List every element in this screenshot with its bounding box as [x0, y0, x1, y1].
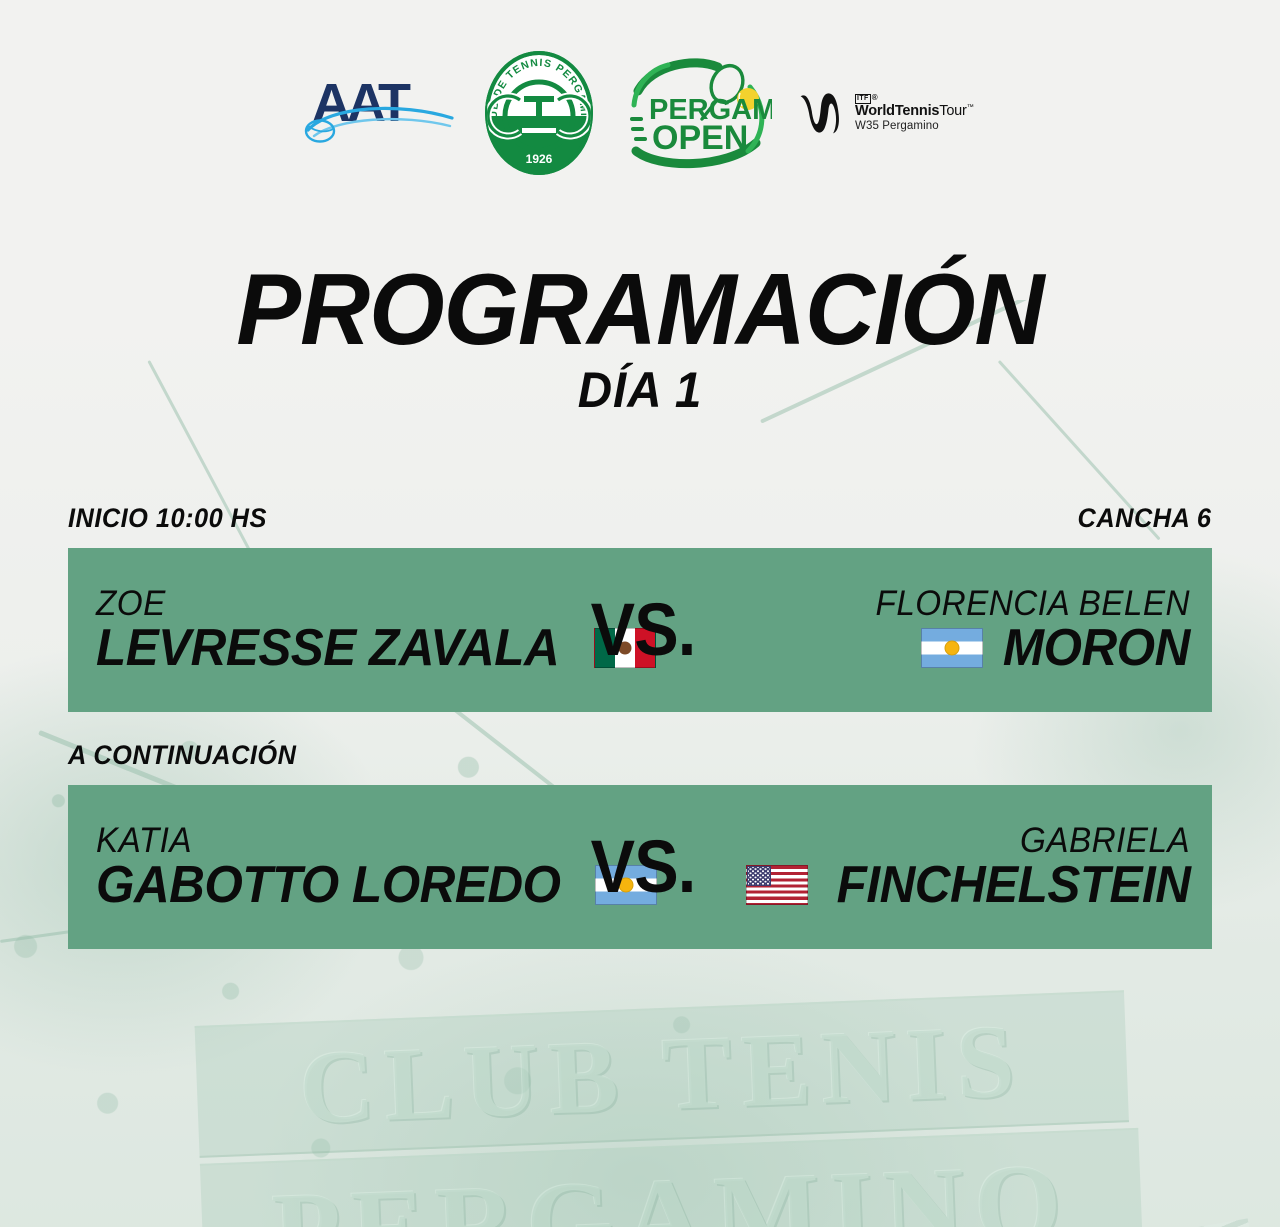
- match-2-player-right: GABRIELA FINCHELSTEIN: [738, 823, 1212, 911]
- player-last-name: GABOTTO LOREDO: [96, 859, 560, 911]
- itf-registered-mark: ®: [872, 94, 878, 102]
- club-de-tennis-pergamino-crest: CLUB DE TENNIS PERGAMINO 1926: [480, 50, 598, 176]
- player-first-name: ZOE: [96, 586, 166, 622]
- player-last-name: FINCHELSTEIN: [836, 859, 1190, 911]
- player-first-name: GABRIELA: [1020, 823, 1190, 859]
- itf-world-word: World: [855, 103, 895, 119]
- itf-w-mark-icon: [796, 87, 848, 139]
- club-sign: CLUB TENIS PERGAMINO: [195, 990, 1136, 1227]
- match-1-band: ZOE LEVRESSE ZAVALA VS. FLORENCIA BELEN …: [68, 548, 1212, 712]
- player-first-name: FLORENCIA BELEN: [876, 586, 1190, 622]
- match-1-vs-label: VS.: [558, 593, 729, 667]
- itf-world-tennis-tour-text: WorldTennisTour™: [855, 104, 974, 119]
- match-2-header: A CONTINUACIÓN: [68, 737, 1212, 771]
- player-last-name: LEVRESSE ZAVALA: [96, 622, 559, 674]
- itf-text-block: ITF ® WorldTennisTour™ W35 Pergamino: [855, 94, 974, 132]
- match-2-player-left: KATIA GABOTTO LOREDO: [68, 823, 548, 911]
- itf-trademark-mark: ™: [967, 104, 974, 111]
- match-2-band: KATIA GABOTTO LOREDO VS. GABRIELA FINCHE…: [68, 785, 1212, 949]
- player-last-line: FINCHELSTEIN: [746, 859, 1190, 911]
- sign-line-1: CLUB TENIS: [297, 1001, 1026, 1148]
- match-2-vs-label: VS.: [558, 830, 729, 904]
- logo-bar: AAT CLUB DE TENNIS PERGAMINO: [0, 48, 1280, 178]
- pergamino-open-logo: PERGAMINO OPEN: [622, 57, 772, 169]
- title-block: PROGRAMACIÓN DÍA 1: [0, 262, 1280, 415]
- usa-flag: [746, 865, 808, 905]
- itf-tour-word: Tour: [939, 103, 966, 119]
- crest-year: 1926: [526, 152, 553, 166]
- aat-swoosh-icon: [304, 100, 456, 146]
- itf-tennis-word: Tennis: [895, 103, 939, 119]
- player-last-line: MORON: [921, 622, 1190, 674]
- sign-plank-top: CLUB TENIS: [195, 990, 1129, 1158]
- pergamino-open-line2: OPEN: [652, 119, 748, 157]
- player-first-name: KATIA: [96, 823, 192, 859]
- page-subtitle: DÍA 1: [32, 365, 1248, 415]
- itf-event-name: W35 Pergamino: [855, 120, 974, 132]
- foliage-texture: [0, 700, 780, 1227]
- match-1-player-left: ZOE LEVRESSE ZAVALA: [68, 586, 548, 674]
- match-2-start-time: A CONTINUACIÓN: [68, 740, 296, 771]
- player-last-name: MORON: [1003, 622, 1190, 674]
- argentina-flag-sun: [945, 640, 960, 655]
- match-1-start-time: INICIO 10:00 HS: [68, 503, 267, 534]
- match-1-player-right: FLORENCIA BELEN MORON: [738, 586, 1212, 674]
- match-1-header: INICIO 10:00 HS CANCHA 6: [68, 500, 1212, 534]
- sign-plank-bottom: PERGAMINO: [200, 1128, 1144, 1227]
- roof-tiles: [992, 1218, 1269, 1227]
- page-title: PROGRAMACIÓN: [26, 262, 1255, 359]
- sign-line-2: PERGAMINO: [270, 1138, 1074, 1227]
- match-1-court: CANCHA 6: [1078, 503, 1212, 534]
- usa-flag-canton: [747, 866, 771, 886]
- itf-world-tennis-tour-logo: ITF ® WorldTennisTour™ W35 Pergamino: [796, 83, 976, 143]
- aat-logo: AAT: [304, 74, 456, 152]
- argentina-flag: [921, 628, 983, 668]
